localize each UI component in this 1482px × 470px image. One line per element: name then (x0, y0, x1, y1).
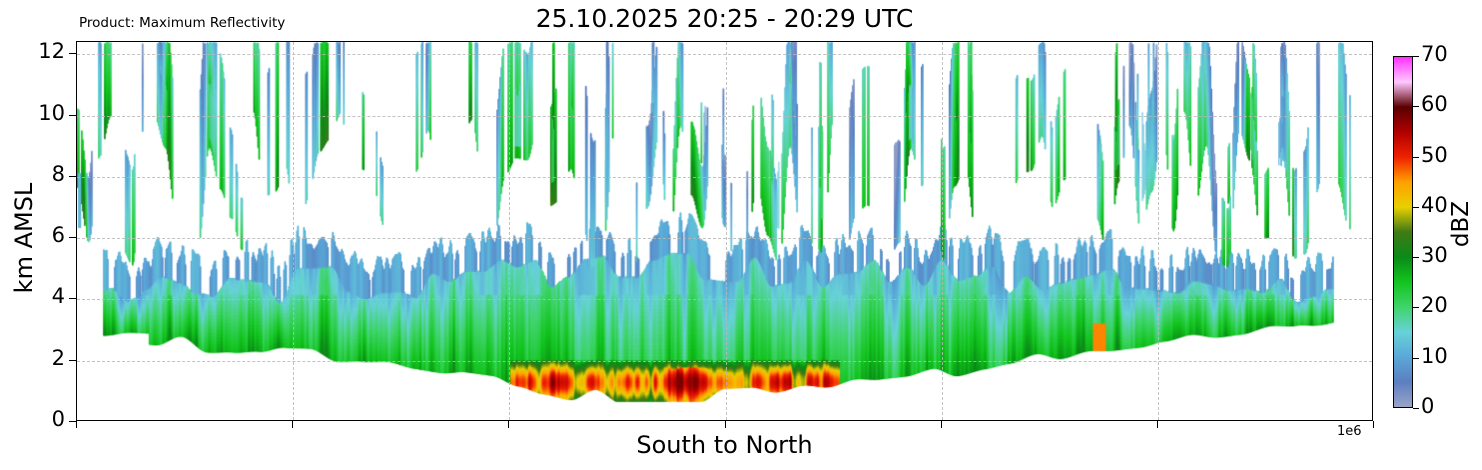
y-tick-label: 0 (52, 407, 65, 431)
y-tick-label: 12 (38, 39, 65, 63)
y-tick-label: 10 (38, 101, 65, 125)
x-tick-mark (76, 421, 77, 428)
y-tick-label: 8 (52, 162, 65, 186)
y-tick-mark (69, 360, 76, 361)
x-tick-mark (292, 421, 293, 428)
colorbar-tick-mark (1413, 307, 1419, 308)
colorbar-tick-label: 40 (1421, 193, 1448, 217)
y-tick-mark (69, 421, 76, 422)
x-tick-mark (1373, 421, 1374, 428)
y-tick-mark (69, 53, 76, 54)
colorbar-tick-label: 10 (1421, 344, 1448, 368)
y-tick-mark (69, 115, 76, 116)
y-tick-mark (69, 176, 76, 177)
y-tick-label: 4 (52, 284, 65, 308)
x-axis-offset-text: 1e6 (1337, 424, 1362, 439)
colorbar (1393, 56, 1413, 408)
colorbar-tick-mark (1413, 106, 1419, 107)
radar-cross-section-figure: 25.10.2025 20:25 - 20:29 UTC Product: Ma… (0, 0, 1482, 470)
y-tick-mark (69, 237, 76, 238)
product-annotation: Product: Maximum Reflectivity (79, 15, 285, 31)
colorbar-gradient (1394, 57, 1412, 407)
colorbar-tick-mark (1413, 358, 1419, 359)
colorbar-tick-label: 0 (1421, 394, 1434, 418)
colorbar-tick-label: 70 (1421, 42, 1448, 66)
x-tick-mark (508, 421, 509, 428)
colorbar-tick-label: 30 (1421, 243, 1448, 267)
y-tick-label: 2 (52, 346, 65, 370)
y-axis-label-wrapper: km AMSL (0, 41, 1, 421)
colorbar-tick-mark (1413, 408, 1419, 409)
colorbar-label-wrapper: dBZ (1459, 56, 1460, 408)
y-tick-mark (69, 298, 76, 299)
plot-area[interactable] (76, 41, 1373, 421)
y-tick-label: 6 (52, 223, 65, 247)
colorbar-tick-mark (1413, 207, 1419, 208)
colorbar-tick-label: 60 (1421, 92, 1448, 116)
y-axis-label: km AMSL (10, 158, 38, 318)
x-tick-mark (941, 421, 942, 428)
colorbar-tick-label: 20 (1421, 293, 1448, 317)
colorbar-tick-label: 50 (1421, 143, 1448, 167)
colorbar-tick-mark (1413, 56, 1419, 57)
x-tick-mark (1157, 421, 1158, 428)
reflectivity-heatmap (77, 42, 1372, 420)
colorbar-label: dBZ (1448, 184, 1474, 264)
colorbar-tick-mark (1413, 257, 1419, 258)
colorbar-tick-mark (1413, 157, 1419, 158)
x-axis-label: South to North (76, 431, 1373, 459)
x-tick-mark (725, 421, 726, 428)
